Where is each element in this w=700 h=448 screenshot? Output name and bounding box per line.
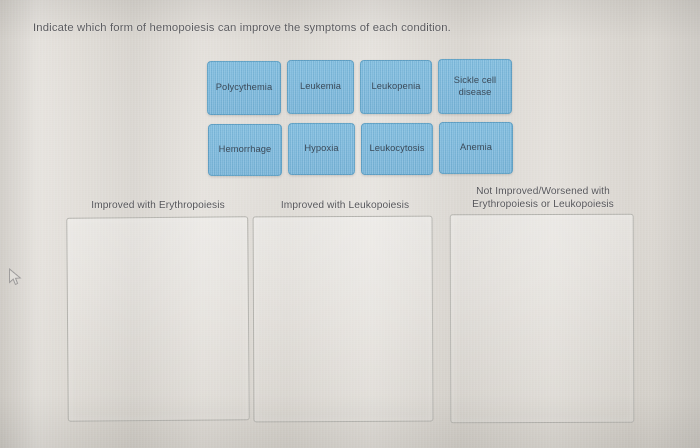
question-prompt: Indicate which form of hemopoiesis can i… [33,21,633,35]
draggable-tile-hypoxia[interactable]: Hypoxia [288,123,355,175]
tile-label: Sickle cell disease [442,75,508,98]
tile-label: Leukemia [300,81,341,93]
draggable-tile-anemia[interactable]: Anemia [439,122,513,174]
dropzone-improved-with-erythropoiesis[interactable] [66,216,250,421]
draggable-tile-leukocytosis[interactable]: Leukocytosis [361,123,433,175]
dropzone-not-improved-or-worsened[interactable] [450,214,635,423]
draggable-tile-leukemia[interactable]: Leukemia [287,60,354,114]
draggable-tile-polycythemia[interactable]: Polycythemia [207,61,281,115]
question-screen: Indicate which form of hemopoiesis can i… [0,0,700,448]
mouse-pointer-icon [8,268,22,286]
tile-label: Leukocytosis [370,143,425,155]
draggable-tile-sickle-cell-disease[interactable]: Sickle cell disease [438,59,512,114]
tile-label: Polycythemia [216,82,273,94]
category-label-not-improved-or-worsened: Not Improved/Worsened with Erythropoiesi… [446,186,640,211]
tile-label: Hypoxia [304,143,338,155]
draggable-tile-bank: Polycythemia Leukemia Leukopenia Sickle … [206,60,516,178]
draggable-tile-hemorrhage[interactable]: Hemorrhage [208,124,282,176]
draggable-tile-leukopenia[interactable]: Leukopenia [360,60,432,114]
tile-label: Leukopenia [371,81,420,93]
tile-label: Anemia [460,142,492,154]
tile-label: Hemorrhage [219,144,272,156]
dropzone-improved-with-leukopoiesis[interactable] [253,216,434,423]
category-label-improved-with-leukopoiesis: Improved with Leukopoiesis [252,200,438,213]
category-label-improved-with-erythropoiesis: Improved with Erythropoiesis [62,200,254,213]
